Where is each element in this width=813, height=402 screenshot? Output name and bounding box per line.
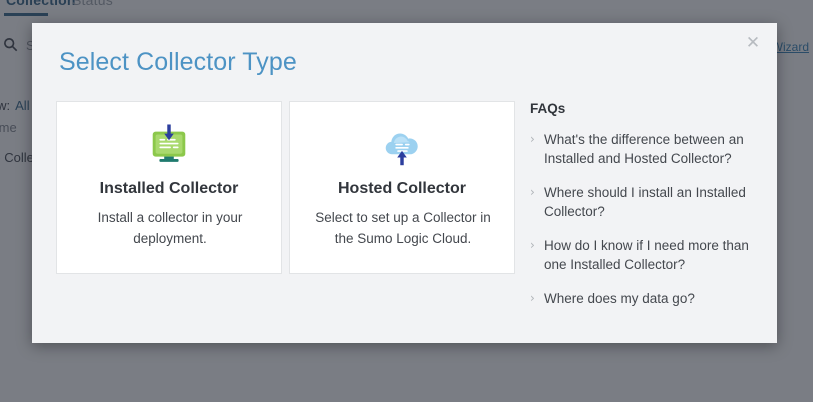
installed-collector-title: Installed Collector (57, 180, 281, 198)
faq-item[interactable]: › Where should I install an Installed Co… (530, 183, 755, 221)
faq-item[interactable]: › Where does my data go? (530, 289, 755, 308)
chevron-right-icon: › (530, 130, 535, 149)
faqs-heading: FAQs (530, 101, 755, 116)
close-icon[interactable]: ✕ (741, 31, 765, 55)
installed-collector-card[interactable]: Installed Collector Install a collector … (56, 101, 282, 274)
faq-item-label: What's the difference between an Install… (544, 132, 744, 166)
hosted-collector-card[interactable]: Hosted Collector Select to set up a Coll… (289, 101, 515, 274)
faq-item-label: How do I know if I need more than one In… (544, 238, 749, 272)
faq-item-label: Where does my data go? (544, 291, 695, 306)
installed-collector-monitor-download-icon (57, 122, 281, 172)
hosted-collector-cloud-upload-icon (290, 122, 514, 172)
dialog-title: Select Collector Type (59, 48, 297, 77)
hosted-collector-title: Hosted Collector (290, 180, 514, 198)
installed-collector-description: Install a collector in your deployment. (75, 207, 265, 249)
app-root: Collection Status Search Show:All Name N… (0, 0, 813, 402)
select-collector-type-dialog: ✕ Select Collector Type (32, 23, 777, 343)
chevron-right-icon: › (530, 236, 535, 255)
hosted-collector-description: Select to set up a Collector in the Sumo… (308, 207, 498, 249)
faq-item-label: Where should I install an Installed Coll… (544, 185, 746, 219)
faq-item[interactable]: › What's the difference between an Insta… (530, 130, 755, 168)
chevron-right-icon: › (530, 183, 535, 202)
chevron-right-icon: › (530, 289, 535, 308)
faq-item[interactable]: › How do I know if I need more than one … (530, 236, 755, 274)
faqs-panel: FAQs › What's the difference between an … (530, 101, 755, 323)
